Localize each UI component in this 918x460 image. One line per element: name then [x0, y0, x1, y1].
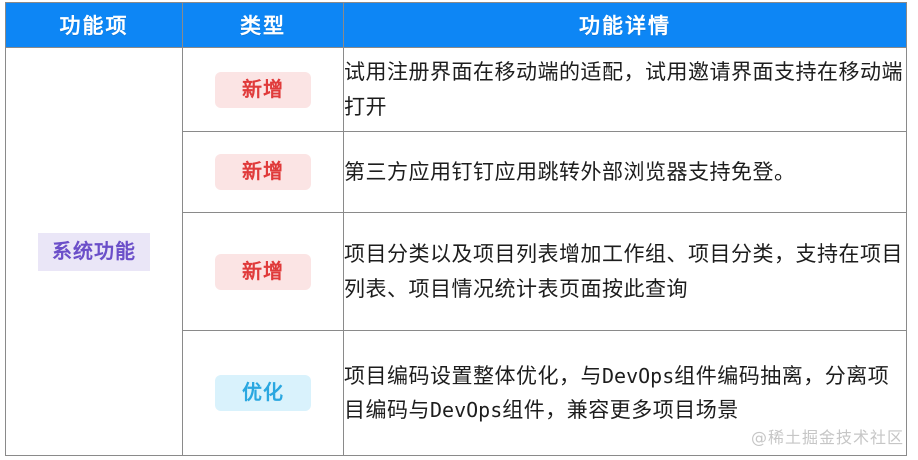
detail-cell: 项目分类以及项目列表增加工作组、项目分类，支持在项目列表、项目情况统计表页面按此…: [344, 213, 907, 331]
column-header-type: 类型: [183, 3, 344, 48]
type-cell: 新增: [183, 132, 344, 213]
detail-text: 组件，兼容更多项目场景: [502, 398, 739, 422]
detail-code-text: DevOps: [430, 398, 502, 422]
release-notes-table: 功能项 类型 功能详情 系统功能 新增 试用注册界面在移动端的适配，试用邀请界面…: [5, 2, 907, 456]
feature-group-cell: 系统功能: [6, 48, 183, 456]
status-badge-new: 新增: [215, 154, 311, 190]
group-badge-system-function: 系统功能: [38, 233, 150, 271]
status-badge-new: 新增: [215, 72, 311, 108]
screenshot-root: 功能项 类型 功能详情 系统功能 新增 试用注册界面在移动端的适配，试用邀请界面…: [0, 0, 918, 460]
status-badge-optimize: 优化: [215, 375, 311, 411]
detail-text: 项目编码设置整体优化，与: [344, 364, 602, 388]
detail-cell: 试用注册界面在移动端的适配，试用邀请界面支持在移动端打开: [344, 48, 907, 132]
type-cell: 新增: [183, 213, 344, 331]
table-body: 系统功能 新增 试用注册界面在移动端的适配，试用邀请界面支持在移动端打开 新增 …: [6, 48, 907, 456]
detail-code-text: DevOps: [602, 364, 674, 388]
table-row: 系统功能 新增 试用注册界面在移动端的适配，试用邀请界面支持在移动端打开: [6, 48, 907, 132]
table-header: 功能项 类型 功能详情: [6, 3, 907, 48]
table-header-row: 功能项 类型 功能详情: [6, 3, 907, 48]
column-header-feature-item: 功能项: [6, 3, 183, 48]
type-cell: 优化: [183, 331, 344, 456]
detail-cell: 第三方应用钉钉应用跳转外部浏览器支持免登。: [344, 132, 907, 213]
detail-cell: 项目编码设置整体优化，与DevOps组件编码抽离，分离项目编码与DevOps组件…: [344, 331, 907, 456]
column-header-detail: 功能详情: [344, 3, 907, 48]
type-cell: 新增: [183, 48, 344, 132]
status-badge-new: 新增: [215, 254, 311, 290]
